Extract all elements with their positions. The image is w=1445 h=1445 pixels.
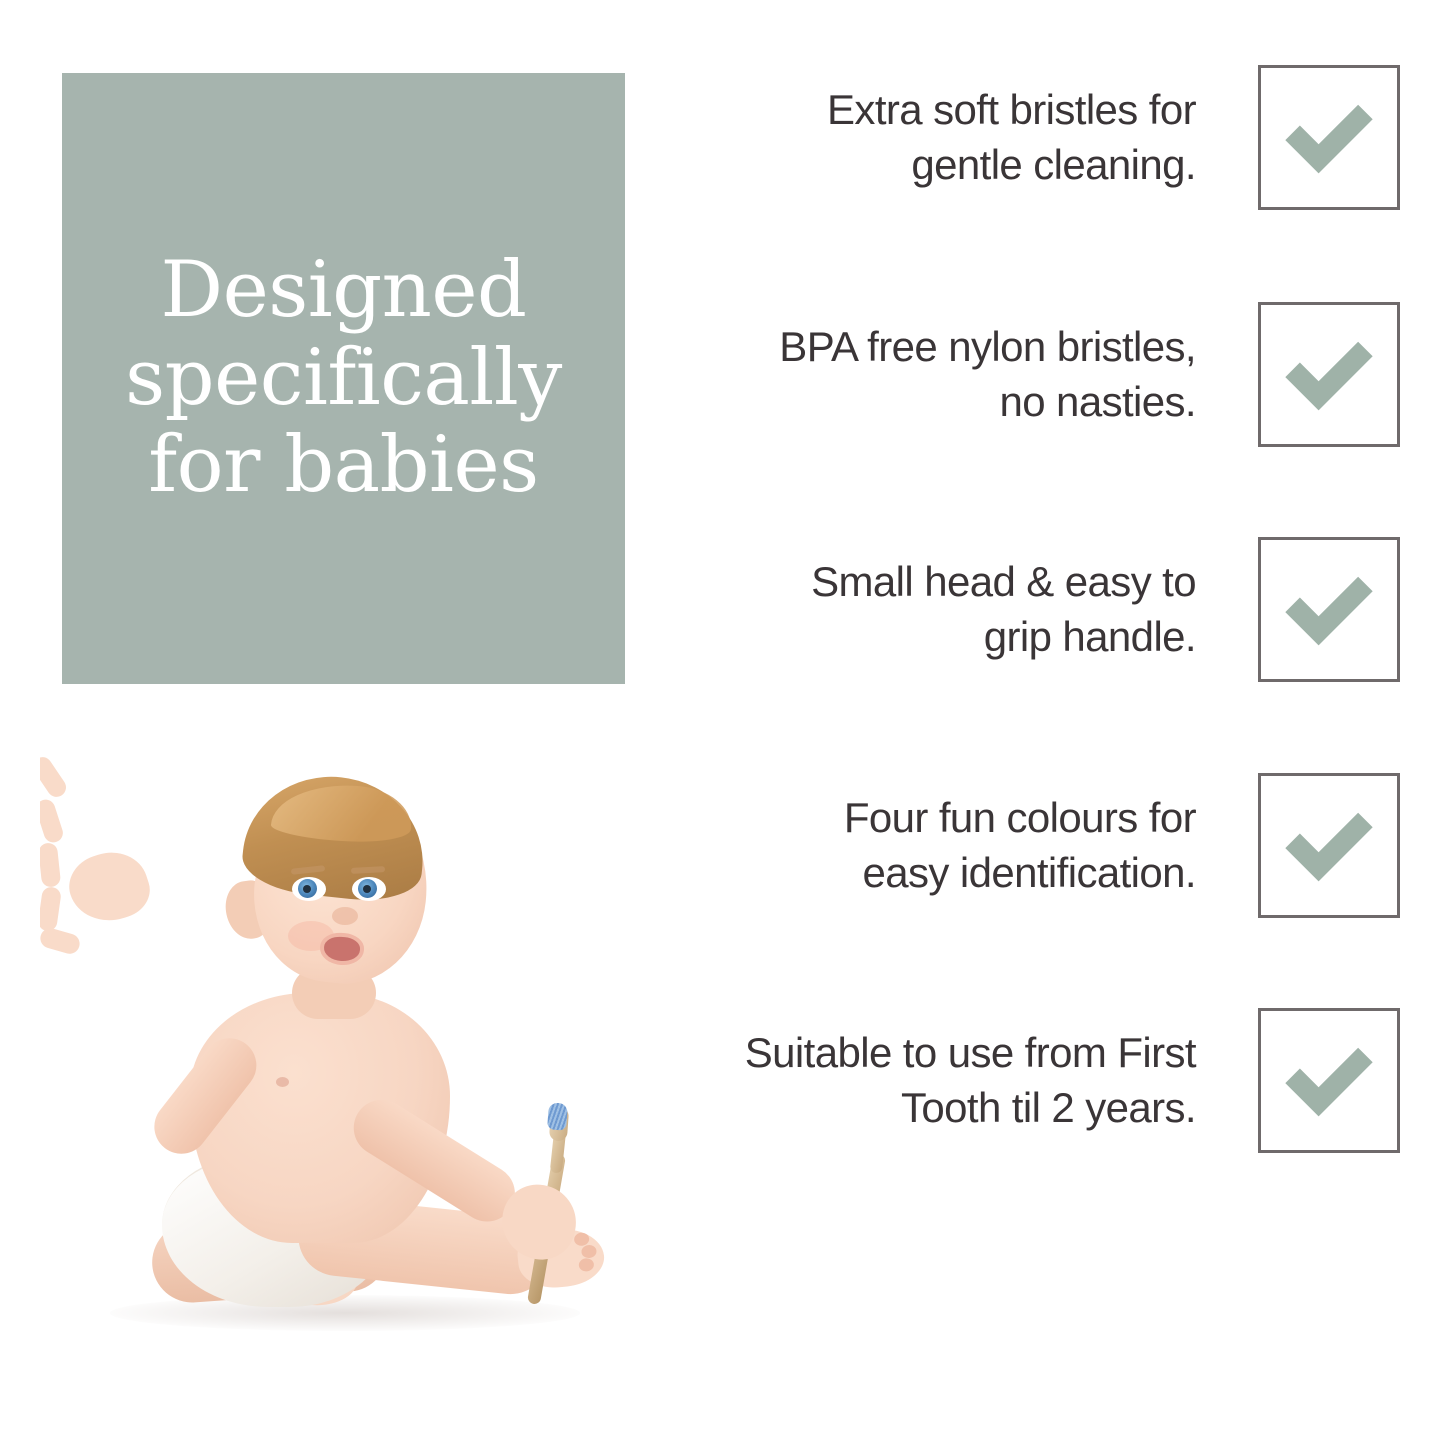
feature-label: Suitable to use from First Tooth til 2 y… bbox=[640, 1026, 1196, 1135]
finger bbox=[40, 842, 61, 888]
checkbox-feature-1[interactable] bbox=[1258, 65, 1400, 210]
toothbrush-bristles bbox=[547, 1102, 568, 1130]
finger bbox=[40, 797, 65, 845]
feature-row: Four fun colours for easy identification… bbox=[640, 773, 1400, 918]
feature-row: Suitable to use from First Tooth til 2 y… bbox=[640, 1008, 1400, 1153]
thumb bbox=[40, 926, 82, 956]
hero-heading-panel: Designed specifically for babies bbox=[62, 73, 625, 684]
baby-nose bbox=[332, 907, 358, 925]
feature-label: Four fun colours for easy identification… bbox=[640, 791, 1196, 900]
feature-label: BPA free nylon bristles, no nasties. bbox=[640, 320, 1196, 429]
checkmark-icon bbox=[1277, 323, 1381, 427]
checkmark-icon bbox=[1277, 86, 1381, 190]
checkmark-icon bbox=[1277, 558, 1381, 662]
baby-pupil-left bbox=[303, 885, 311, 893]
baby-pupil-right bbox=[363, 885, 371, 893]
infographic-canvas: Designed specifically for babies bbox=[0, 0, 1445, 1445]
toe bbox=[578, 1258, 594, 1272]
page-title: Designed specifically for babies bbox=[125, 247, 562, 509]
feature-label: Small head & easy to grip handle. bbox=[640, 555, 1196, 664]
toe bbox=[581, 1244, 597, 1258]
feature-list: Extra soft bristles for gentle cleaning.… bbox=[640, 0, 1400, 1445]
baby-navel bbox=[276, 1077, 289, 1087]
baby-photo bbox=[40, 755, 660, 1375]
finger bbox=[40, 886, 62, 932]
baby-illustration bbox=[40, 755, 660, 1375]
checkbox-feature-2[interactable] bbox=[1258, 302, 1400, 447]
finger bbox=[40, 755, 70, 801]
feature-row: Small head & easy to grip handle. bbox=[640, 537, 1400, 682]
feature-label: Extra soft bristles for gentle cleaning. bbox=[640, 83, 1196, 192]
checkbox-feature-5[interactable] bbox=[1258, 1008, 1400, 1153]
checkbox-feature-4[interactable] bbox=[1258, 773, 1400, 918]
checkbox-feature-3[interactable] bbox=[1258, 537, 1400, 682]
feature-row: Extra soft bristles for gentle cleaning. bbox=[640, 65, 1400, 210]
baby-hand-left bbox=[40, 755, 80, 951]
feature-row: BPA free nylon bristles, no nasties. bbox=[640, 302, 1400, 447]
checkmark-icon bbox=[1277, 1029, 1381, 1133]
checkmark-icon bbox=[1277, 794, 1381, 898]
palm bbox=[61, 843, 156, 932]
